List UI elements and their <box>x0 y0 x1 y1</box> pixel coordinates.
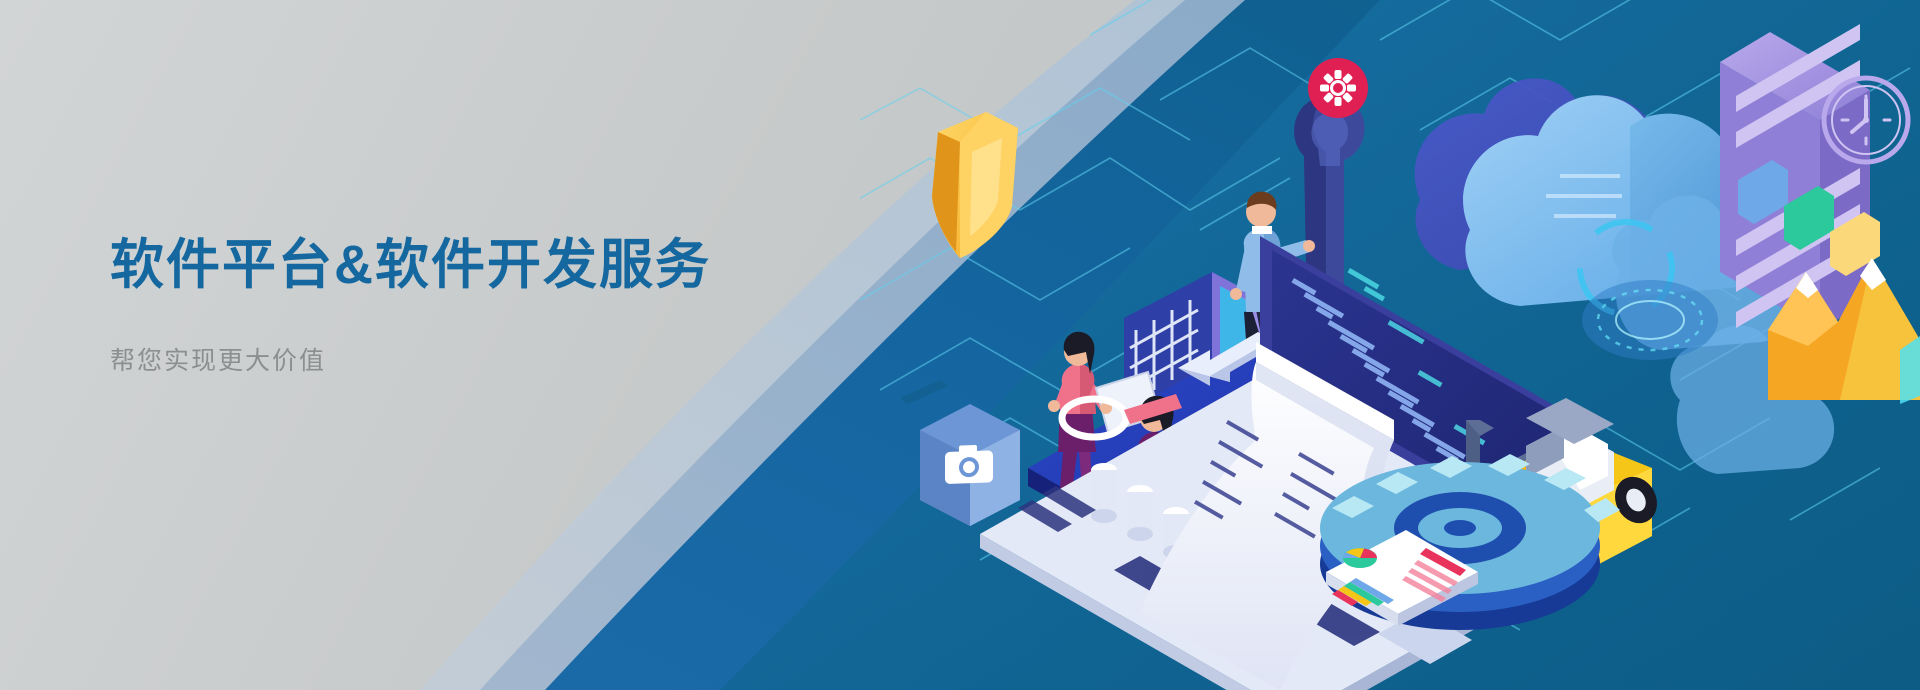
gear-icon <box>1308 58 1368 118</box>
hero-banner: 软件平台&软件开发服务 帮您实现更大价值 <box>0 0 1920 690</box>
camera-icon <box>900 380 1020 526</box>
hero-illustration <box>860 0 1920 690</box>
hero-copy: 软件平台&软件开发服务 帮您实现更大价值 <box>110 236 930 377</box>
page-subtitle: 帮您实现更大价值 <box>110 341 930 377</box>
shield-icon <box>932 112 1018 258</box>
page-title: 软件平台&软件开发服务 <box>110 236 930 295</box>
